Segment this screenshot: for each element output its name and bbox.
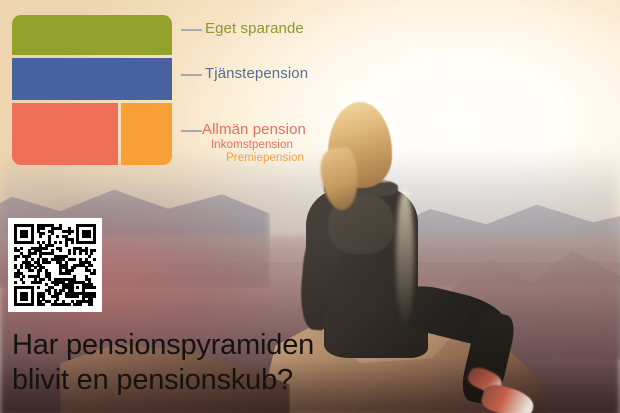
label-premiepension: Premiepension [226, 152, 304, 164]
block-premiepension [121, 103, 172, 165]
promo-image: Eget sparande Tjänstepension Allmän pens… [0, 0, 620, 413]
qr-code[interactable] [8, 218, 102, 312]
qr-code-canvas [14, 224, 96, 306]
leader-line-allman [181, 130, 202, 132]
caption: Har pensionspyramiden blivit en pensions… [12, 328, 382, 399]
pension-pyramid-diagram: Eget sparande Tjänstepension Allmän pens… [0, 0, 320, 180]
label-allman-pension: Allmän pension [202, 121, 306, 138]
block-tjanstepension [12, 58, 172, 100]
label-inkomstpension: Inkomstpension [211, 139, 293, 151]
leader-line-tjanste [181, 74, 202, 76]
caption-line-2: blivit en pensionskub? [12, 363, 382, 398]
block-eget-sparande [12, 15, 172, 55]
label-tjanstepension: Tjänstepension [205, 65, 308, 82]
leader-line-eget [181, 29, 202, 31]
label-eget-sparande: Eget sparande [205, 20, 304, 37]
rim-light [396, 188, 414, 328]
block-inkomstpension [12, 103, 118, 165]
caption-line-1: Har pensionspyramiden [12, 328, 382, 363]
